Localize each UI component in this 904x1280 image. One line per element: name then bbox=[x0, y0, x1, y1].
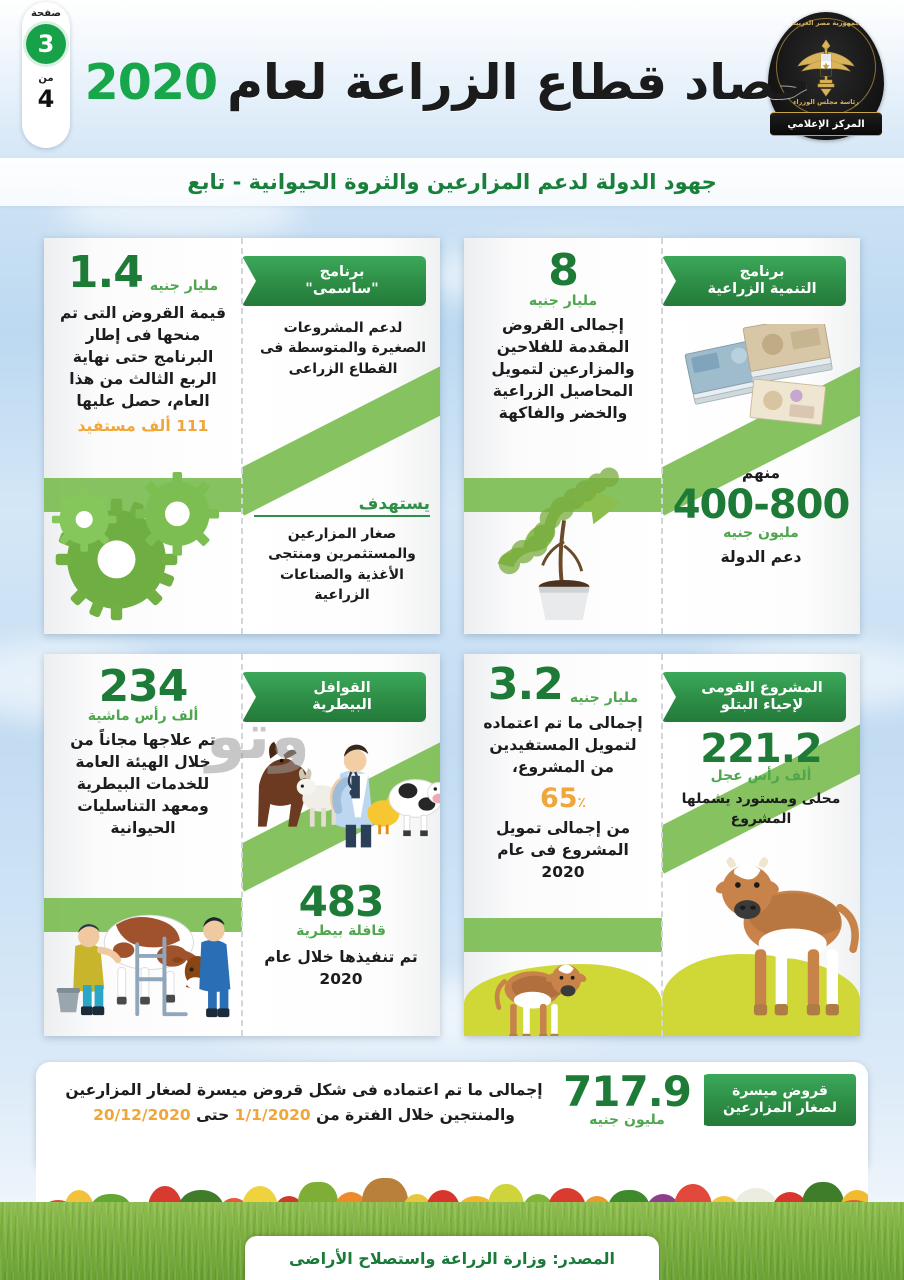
card-agri-secondary-number: 400-800 bbox=[673, 486, 850, 524]
card-shasmi-secondary-heading: يستهدف bbox=[254, 494, 430, 517]
card-calf-right-page: المشروع القومى لإحياء البتلو 221.2 ألف ر… bbox=[662, 654, 860, 1036]
card-calf-body-part2: من إجمالى تمويل المشروع فى عام 2020 bbox=[478, 817, 648, 883]
bottom-banner-date-to: 20/12/2020 bbox=[93, 1106, 191, 1124]
bottom-banner-line1: إجمالى ما تم اعتماده فى شكل قروض ميسرة ل… bbox=[52, 1078, 556, 1103]
source-text: المصدر: وزارة الزراعة واستصلاح الأراضى bbox=[289, 1249, 615, 1268]
card-vet-ribbon-line1: القوافل bbox=[313, 680, 370, 697]
card-agri-secondary-body: دعم الدولة bbox=[672, 546, 850, 568]
calf-icon bbox=[484, 954, 596, 1036]
card-vet-left-page: 234 ألف رأس ماشية تم علاجها مجاناً من خل… bbox=[44, 654, 242, 1036]
card-shasmi-ribbon: برنامج "ساسمى" bbox=[242, 256, 426, 306]
logo-band-text: المركز الإعلامي bbox=[787, 119, 864, 130]
card-agri-body: إجمالى القروض المقدمة للفلاحين والمزارعي… bbox=[478, 314, 648, 424]
card-shasmi-secondary-body: صغار المزارعين والمستثمرين ومنتجى الأغذي… bbox=[254, 524, 430, 605]
card-vet-secondary-number: 483 bbox=[299, 882, 384, 922]
card-calf-stat: مليار جنيه 3.2 bbox=[478, 664, 648, 706]
card-shasmi-unit: مليار جنيه bbox=[150, 279, 218, 294]
card-agri-secondary-heading: منهم bbox=[672, 462, 850, 484]
card-vet-body: تم علاجها مجاناً من خلال الهيئة العامة ل… bbox=[58, 729, 228, 839]
card-vet-unit: ألف رأس ماشية bbox=[58, 709, 228, 724]
card-shasmi-number: 1.4 bbox=[68, 252, 143, 294]
card-calf-unit: مليار جنيه bbox=[570, 691, 638, 706]
card-shasmi-ribbon-line2: "ساسمى" bbox=[305, 281, 378, 298]
card-shasmi-highlight: 111 ألف مستفيد bbox=[58, 415, 228, 437]
source-box: المصدر: وزارة الزراعة واستصلاح الأراضى bbox=[245, 1236, 659, 1280]
section-subtitle: جهود الدولة لدعم المزارعين والثروة الحيو… bbox=[187, 170, 716, 194]
card-calf-secondary-body: محلى ومستورد يشملها المشروع bbox=[672, 789, 850, 830]
section-subtitle-bar: جهود الدولة لدعم المزارعين والثروة الحيو… bbox=[0, 158, 904, 206]
bottom-banner-line2-prefix: والمنتجين خلال الفترة من bbox=[316, 1106, 515, 1124]
cow-icon bbox=[702, 840, 860, 1032]
card-shasmi: مليار جنيه 1.4 قيمة القروض التى تم منحها… bbox=[44, 238, 440, 634]
page-title: حصاد قطاع الزراعة لعام 2020 bbox=[140, 44, 756, 120]
card-agri-secondary-unit: مليون جنيه bbox=[672, 526, 850, 541]
page-indicator-of-label: من bbox=[38, 73, 53, 84]
card-calf-ribbon-line2: لإحياء البتلو bbox=[721, 697, 803, 714]
vet-with-farm-animals-icon bbox=[242, 726, 440, 850]
money-plant-growth-icon bbox=[480, 448, 656, 624]
card-vet-convoys: 234 ألف رأس ماشية تم علاجها مجاناً من خل… bbox=[44, 654, 440, 1036]
green-band bbox=[464, 918, 662, 952]
card-vet-secondary-body: تم تنفيذها خلال عام 2020 bbox=[252, 946, 430, 990]
banknotes-icon bbox=[680, 324, 856, 448]
infographic-page: جمهورية مصر العربية bbox=[0, 0, 904, 1280]
page-title-dark: حصاد قطاع الزراعة لعام bbox=[227, 54, 811, 111]
card-agri-ribbon: برنامج التنمية الزراعية bbox=[662, 256, 846, 306]
card-vet-number: 234 bbox=[99, 666, 188, 708]
page-indicator-total: 4 bbox=[38, 85, 55, 113]
card-calf-percent: 65 bbox=[540, 783, 578, 814]
bottom-banner-text: إجمالى ما تم اعتماده فى شكل قروض ميسرة ل… bbox=[52, 1078, 556, 1128]
card-shasmi-left-page: مليار جنيه 1.4 قيمة القروض التى تم منحها… bbox=[44, 238, 242, 634]
bottom-banner-line2-mid: حتى bbox=[196, 1106, 229, 1124]
bottom-banner-date-from: 1/1/2020 bbox=[235, 1106, 311, 1124]
page-title-year: 2020 bbox=[85, 54, 217, 111]
card-vet-ribbon-line2: البيطرية bbox=[312, 697, 372, 714]
card-shasmi-stat: مليار جنيه 1.4 bbox=[58, 252, 228, 294]
bottom-banner-ribbon-line1: قروض ميسرة bbox=[732, 1083, 828, 1100]
card-shasmi-right-desc: لدعم المشروعات الصغيرة والمتوسطة فى القط… bbox=[258, 318, 428, 379]
green-gears-icon bbox=[50, 468, 240, 628]
card-calf-body-part1: إجمالى ما تم اعتماده لتمويل المستفيدين م… bbox=[478, 712, 648, 778]
card-shasmi-ribbon-line1: برنامج bbox=[320, 264, 365, 281]
card-vet-ribbon: القوافل البيطرية bbox=[242, 672, 426, 722]
vet-treating-cow-icon bbox=[48, 880, 242, 1030]
card-calf-secondary-number: 221.2 bbox=[700, 730, 822, 768]
card-agri-right-page: برنامج التنمية الزراعية bbox=[662, 238, 860, 634]
bottom-banner-stat: 717.9 مليون جنيه bbox=[562, 1072, 692, 1129]
card-vet-right-page: القوافل البيطرية bbox=[242, 654, 440, 1036]
card-agri-ribbon-line2: التنمية الزراعية bbox=[707, 281, 816, 298]
bottom-banner-line2: والمنتجين خلال الفترة من 1/1/2020 حتى 20… bbox=[52, 1103, 556, 1128]
card-agri-ribbon-line1: برنامج bbox=[740, 264, 785, 281]
logo-top-text: جمهورية مصر العربية bbox=[768, 19, 884, 27]
card-calf-ribbon: المشروع القومى لإحياء البتلو bbox=[662, 672, 846, 722]
card-vet-secondary-unit: قافلة بيطرية bbox=[252, 924, 430, 939]
bottom-banner-ribbon-line2: لصغار المزارعين bbox=[723, 1100, 837, 1117]
card-calf-ribbon-line1: المشروع القومى bbox=[701, 680, 822, 697]
bottom-banner-ribbon: قروض ميسرة لصغار المزارعين bbox=[704, 1074, 856, 1126]
page-indicator-label: صفحة bbox=[31, 8, 61, 19]
card-shasmi-right-page: برنامج "ساسمى" لدعم المشروعات الصغيرة وا… bbox=[242, 238, 440, 634]
card-calf-percent-symbol: ٪ bbox=[578, 795, 587, 811]
grass-footer: المصدر: وزارة الزراعة واستصلاح الأراضى bbox=[0, 1202, 904, 1280]
page-header: جمهورية مصر العربية bbox=[0, 0, 904, 150]
page-indicator: صفحة 3 من 4 bbox=[22, 2, 70, 148]
card-agri-left-page: 8 مليار جنيه إجمالى القروض المقدمة للفلا… bbox=[464, 238, 662, 634]
card-agri-unit: مليار جنيه bbox=[478, 294, 648, 309]
card-calf-secondary-unit: ألف رأس عجل bbox=[672, 769, 850, 784]
bottom-banner-number: 717.9 bbox=[563, 1072, 691, 1112]
card-calf-number: 3.2 bbox=[488, 664, 563, 706]
page-indicator-current: 3 bbox=[26, 24, 66, 64]
card-calf-left-page: مليار جنيه 3.2 إجمالى ما تم اعتماده لتمو… bbox=[464, 654, 662, 1036]
card-calf-revival: مليار جنيه 3.2 إجمالى ما تم اعتماده لتمو… bbox=[464, 654, 860, 1036]
card-agri-development: 8 مليار جنيه إجمالى القروض المقدمة للفلا… bbox=[464, 238, 860, 634]
card-agri-number: 8 bbox=[548, 250, 578, 292]
logo-band: المركز الإعلامي bbox=[770, 112, 882, 136]
card-shasmi-body: قيمة القروض التى تم منحها فى إطار البرنا… bbox=[58, 302, 228, 412]
